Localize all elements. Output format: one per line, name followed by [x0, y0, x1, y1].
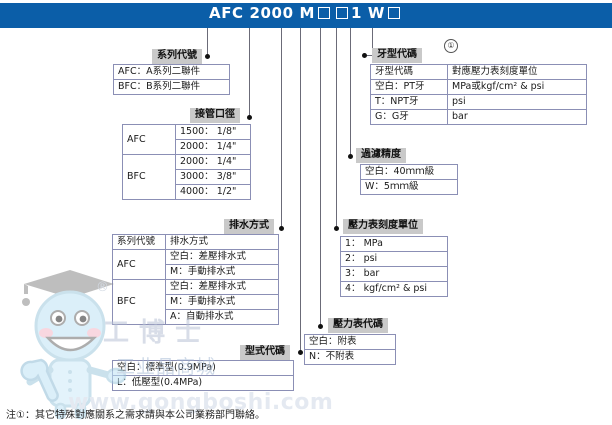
table-row: AFC 1500： 1/8"	[123, 125, 251, 140]
gauge-code-table: 空白：附表 N：不附表	[304, 334, 396, 365]
gauge-code-n: N：不附表	[305, 350, 396, 365]
drain-afc-blank: 空白：差壓排水式	[166, 250, 279, 265]
type-code-table: 空白：標準型(0.9MPa) L：低壓型(0.4MPa)	[112, 360, 294, 391]
table-row: 2： psi	[341, 252, 448, 267]
leader-line-filter	[350, 28, 351, 156]
leader-line-series	[207, 28, 208, 56]
port-size-group-afc: AFC	[123, 125, 176, 155]
series-row-bfc: BFC：B系列二聯件	[114, 80, 230, 95]
series-code-table: AFC：A系列二聯件 BFC：B系列二聯件	[113, 64, 230, 95]
type-code-standard: 空白：標準型(0.9MPa)	[113, 361, 294, 376]
drain-head-series: 系列代號	[113, 235, 166, 250]
callout-title-type-code: 型式代碼	[240, 345, 290, 360]
thread-code-npt: T：NPT牙	[371, 95, 448, 110]
thread-code-pt: 空白：PT牙	[371, 80, 448, 95]
leader-line-gauge-unit	[336, 28, 337, 226]
table-row: 空白：40ｍｍ級	[361, 165, 458, 180]
drain-method-table: 系列代號 排水方式 AFC 空白：差壓排水式 M：手動排水式 BFC 空白：差壓…	[112, 234, 279, 325]
drain-group-afc: AFC	[113, 250, 166, 280]
thread-head-code: 牙型代碼	[371, 65, 448, 80]
callout-title-gauge-code: 壓力表代碼	[328, 318, 388, 333]
drain-head-method: 排水方式	[166, 235, 279, 250]
filter-w-5um: W：5ｍｍ級	[361, 180, 458, 195]
gauge-unit-table: 1： MPa 2： psi 3： bar 4： kgf/cm² & psi	[340, 236, 448, 297]
table-row: 空白：PT牙 MPa或kgf/cm² & psi	[371, 80, 587, 95]
table-row: 空白：標準型(0.9MPa)	[113, 361, 294, 376]
leader-line-type-code	[300, 28, 301, 352]
table-row: 牙型代碼 對應壓力表刻度單位	[371, 65, 587, 80]
model-code-prefix: AFC 2000 M	[209, 4, 315, 22]
thread-head-unit: 對應壓力表刻度單位	[448, 65, 587, 80]
leader-dot-filter	[348, 154, 353, 159]
gauge-unit-3-bar: 3： bar	[341, 267, 448, 282]
leader-dot-gauge-unit	[334, 226, 339, 231]
table-row: W：5ｍｍ級	[361, 180, 458, 195]
table-row: 空白：附表	[305, 335, 396, 350]
drain-group-bfc: BFC	[113, 280, 166, 325]
model-code-middle: 1 W	[351, 4, 385, 22]
leader-line-gauge-code	[320, 28, 321, 326]
table-row: BFC：B系列二聯件	[114, 80, 230, 95]
code-placeholder-box-2	[336, 7, 348, 19]
gauge-unit-1-mpa: 1： MPa	[341, 237, 448, 252]
table-row: BFC 2000： 1/4"	[123, 155, 251, 170]
port-size-group-bfc: BFC	[123, 155, 176, 200]
table-row: AFC 空白：差壓排水式	[113, 250, 279, 265]
thread-unit-g: bar	[448, 110, 587, 125]
drain-bfc-blank: 空白：差壓排水式	[166, 280, 279, 295]
thread-code-table: 牙型代碼 對應壓力表刻度單位 空白：PT牙 MPa或kgf/cm² & psi …	[370, 64, 587, 125]
leader-dot-gauge-code	[318, 324, 323, 329]
drain-afc-m: M：手動排水式	[166, 265, 279, 280]
drain-bfc-a: A：自動排水式	[166, 310, 279, 325]
table-row: AFC：A系列二聯件	[114, 65, 230, 80]
port-size-bfc-2000: 2000： 1/4"	[176, 155, 251, 170]
table-row: 1： MPa	[341, 237, 448, 252]
port-size-bfc-3000: 3000： 3/8"	[176, 170, 251, 185]
code-placeholder-box-3	[388, 7, 400, 19]
model-code-string: AFC 2000 M 1 W	[0, 0, 612, 25]
drain-bfc-m: M：手動排水式	[166, 295, 279, 310]
table-row: 3： bar	[341, 267, 448, 282]
leader-line-port-size	[249, 28, 250, 117]
leader-line-drain	[281, 28, 282, 228]
port-size-bfc-4000: 4000： 1/2"	[176, 185, 251, 200]
leader-dot-thread	[362, 53, 367, 58]
callout-title-series: 系列代號	[152, 49, 202, 64]
table-row: G：G牙 bar	[371, 110, 587, 125]
table-row: N：不附表	[305, 350, 396, 365]
gauge-unit-4-kgf: 4： kgf/cm² & psi	[341, 282, 448, 297]
callout-title-filter: 過濾精度	[356, 148, 406, 163]
series-row-afc: AFC：A系列二聯件	[114, 65, 230, 80]
port-size-afc-2000: 2000： 1/4"	[176, 140, 251, 155]
footnote-text: 注①：其它特殊對應關系之需求請與本公司業務部門聯絡。	[6, 406, 506, 421]
callout-title-thread: 牙型代碼	[372, 48, 422, 63]
table-row: T：NPT牙 psi	[371, 95, 587, 110]
filter-precision-table: 空白：40ｍｍ級 W：5ｍｍ級	[360, 164, 458, 195]
registered-mark: ®	[96, 280, 109, 295]
callout-title-gauge-unit: 壓力表刻度單位	[343, 219, 423, 234]
table-row: 系列代號 排水方式	[113, 235, 279, 250]
table-row: 4： kgf/cm² & psi	[341, 282, 448, 297]
port-size-table: AFC 1500： 1/8" 2000： 1/4" BFC 2000： 1/4"…	[122, 124, 251, 200]
thread-unit-pt: MPa或kgf/cm² & psi	[448, 80, 587, 95]
leader-dot-port-size	[247, 115, 252, 120]
code-placeholder-box-1	[318, 7, 330, 19]
table-row: BFC 空白：差壓排水式	[113, 280, 279, 295]
callout-title-port-size: 接管口徑	[190, 108, 240, 123]
footnote-marker-thread: ①	[444, 39, 458, 53]
leader-dot-series	[205, 54, 210, 59]
filter-blank-40um: 空白：40ｍｍ級	[361, 165, 458, 180]
type-code-low-pressure: L：低壓型(0.4MPa)	[113, 376, 294, 391]
thread-code-g: G：G牙	[371, 110, 448, 125]
leader-dot-drain	[279, 226, 284, 231]
thread-unit-npt: psi	[448, 95, 587, 110]
gauge-code-blank: 空白：附表	[305, 335, 396, 350]
leader-dot-type-code	[298, 350, 303, 355]
callout-title-drain: 排水方式	[224, 219, 274, 234]
gauge-unit-2-psi: 2： psi	[341, 252, 448, 267]
table-row: L：低壓型(0.4MPa)	[113, 376, 294, 391]
port-size-afc-1500: 1500： 1/8"	[176, 125, 251, 140]
